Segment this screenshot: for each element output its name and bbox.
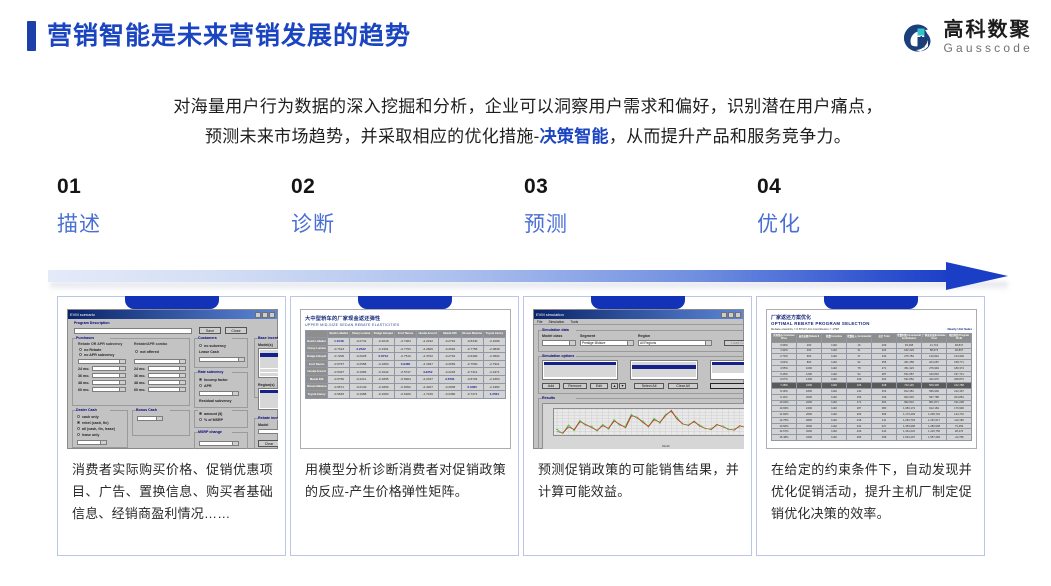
card-row: EVM scenario Program Description Save Cl… — [0, 296, 1051, 558]
intro-line-2: 预测未来市场趋势，并采取相应的优化措施-决策智能，从而提升产品和服务竞争力。 — [48, 122, 1008, 152]
label-models: Model(s) — [258, 343, 273, 347]
matrix-panel: 大中型轿车的厂家现金返还弹性 UPPER MID-SIZE SEDAN REBA… — [300, 309, 511, 449]
matrix-cell: -0.2742 — [350, 337, 372, 345]
matrix-row-header: Toyota Camry — [306, 391, 328, 399]
group-label-simulation-data: Simulation data — [542, 328, 569, 332]
label-segment: Segment — [580, 334, 595, 338]
matrix-cell: -0.7371 — [461, 391, 483, 399]
matrix-cell: 1.1548 — [328, 337, 350, 345]
card-tab — [591, 296, 685, 309]
radio-amount[interactable] — [199, 412, 202, 415]
label-regions: Region(s) — [258, 383, 275, 387]
matrix-title-en: UPPER MID-SIZE SEDAN REBATE ELASTICITIES — [305, 323, 506, 327]
matrix-cell: 2.2522 — [350, 345, 372, 353]
matrix-cell: -2.1663 — [483, 375, 505, 383]
matrix-cell: -0.5645 — [328, 391, 350, 399]
step-number: 01 — [57, 176, 101, 197]
matrix-cell: 2.6791 — [439, 375, 461, 383]
thumbnail-optimal-table: 厂家返还方案优化 OPTIMAL REBATE PROGRAM SELECTIO… — [766, 309, 977, 449]
table-row: Buick LaSabre1.1548-0.2742-0.2018-0.7284… — [306, 337, 506, 345]
label-48mo-left: 48 mo. — [78, 381, 89, 385]
group-label-purchases: Purchases — [76, 336, 94, 340]
edit-button[interactable]: Edit — [590, 383, 608, 389]
matrix-row-header: Ford Taurus — [306, 360, 328, 368]
label-region: Region — [638, 334, 650, 338]
window-buttons — [255, 312, 275, 318]
card-caption: 在给定的约束条件下，自动发现并优化促销活动，提升主机厂制定促销优化决策的效率。 — [771, 459, 972, 524]
matrix-cell: -2.2606 — [417, 345, 439, 353]
models-listbox[interactable] — [258, 348, 278, 378]
step-04: 04 优化 — [757, 176, 801, 235]
label-all: all (cash, fin, lease) — [82, 427, 115, 431]
matrix-cell: -0.2293 — [439, 368, 461, 376]
matrix-cell: -0.1895 — [372, 375, 394, 383]
step-number: 03 — [524, 176, 568, 197]
group-label-simulation-options: Simulation options — [542, 354, 574, 358]
matrix-cell: -0.7314 — [461, 368, 483, 376]
menu-tools[interactable]: Tools — [570, 320, 578, 324]
optimal-table: 实际售价 Customer Price返还金额 Rebate $数量 Incen… — [771, 333, 972, 441]
region-combo[interactable]: All Regions — [638, 340, 712, 346]
radio-apr[interactable] — [199, 384, 202, 387]
matrix-cell: -2.2271 — [483, 368, 505, 376]
matrix-cell: -0.2018 — [372, 337, 394, 345]
model-listbox[interactable] — [630, 360, 698, 380]
radio-no-rebate[interactable] — [79, 348, 82, 351]
bonus-cash-group — [132, 410, 190, 436]
legacy-window: EVM scenario Program Description Save Cl… — [67, 309, 278, 449]
label-residual-subvency: Residual subvency — [199, 399, 232, 403]
save-button[interactable]: Save — [199, 327, 221, 334]
table-row: Ford Taurus-0.6797-0.2588-0.18600.9480-2… — [306, 360, 506, 368]
logo-text: 高科数聚 Gausscode — [943, 20, 1033, 55]
field-60mo-right[interactable] — [148, 387, 186, 392]
group-label-base-incentives: Base incentives — [258, 336, 278, 340]
elasticity-table: Buick LaSabreChevy LuminaDodge IntrepidF… — [305, 330, 506, 399]
matrix-cell: -0.2838 — [439, 383, 461, 391]
card-tab — [824, 296, 918, 309]
matrix-row-header: Honda Accord — [306, 368, 328, 376]
brand-logo: 高科数聚 Gausscode — [898, 20, 1033, 56]
matrix-cell: -0.2149 — [350, 383, 372, 391]
opt-cell: 1192 — [822, 435, 847, 441]
chart-plot-area — [553, 408, 744, 436]
graph-button[interactable]: Graph — [710, 383, 744, 389]
label-60mo-right: 60 mo. — [134, 388, 145, 392]
menu-simulation[interactable]: Simulation — [548, 320, 564, 324]
card-caption: 用模型分析诊断消费者对促销政策的反应-产生价格弹性矩阵。 — [305, 459, 506, 503]
opt-col-header: 数量 Incentive — [822, 334, 847, 343]
model-class-combo[interactable] — [542, 340, 576, 346]
card-caption: 预测促销政策的可能销售结果，并计算可能效益。 — [538, 459, 739, 503]
regions-listbox[interactable] — [258, 388, 278, 410]
intro-paragraph: 对海量用户行为数据的深入挖掘和分析，企业可以洞察用户需求和偏好，识别潜在用户痛点… — [48, 92, 1008, 152]
logo-name-cn: 高科数聚 — [943, 20, 1033, 41]
step-01: 01 描述 — [57, 176, 101, 235]
matrix-cell: -0.8340 — [461, 337, 483, 345]
matrix-cell: -0.6490 — [461, 353, 483, 361]
thumbnail-form-window: EVM scenario Program Description Save Cl… — [67, 309, 278, 449]
label-not-offered: not offered — [140, 350, 159, 354]
opt-cell: 1,557,283 — [922, 435, 947, 441]
matrix-cell: -0.1986 — [350, 368, 372, 376]
radio-no-apr[interactable] — [79, 353, 82, 356]
arrow-head-icon — [946, 262, 1008, 290]
optimal-panel: 厂家返还方案优化 OPTIMAL REBATE PROGRAM SELECTIO… — [766, 309, 977, 449]
opt-cell: 3400 — [797, 435, 822, 441]
step-02: 02 诊断 — [291, 176, 335, 235]
matrix-cell: -2.2337 — [417, 375, 439, 383]
arrow-shaft — [48, 270, 954, 282]
region-value: All Regions — [640, 341, 656, 345]
label-24mo-left: 24 mo. — [78, 367, 89, 371]
matrix-col-header: Ford Taurus — [394, 331, 416, 338]
group-label-program-description: Program Description — [74, 321, 110, 325]
chart-xaxis-label: Month — [662, 444, 670, 448]
matrix-cell: -2.2192 — [417, 337, 439, 345]
label-model: Model — [258, 423, 268, 427]
label-rebate-apr: Rebate OR APR subvency — [78, 342, 122, 346]
matrix-cell: -0.6189 — [394, 391, 416, 399]
label-amount: amount ($) — [204, 412, 222, 416]
window-title: EVM scenario — [70, 312, 95, 317]
matrix-row-header: Dodge Intrepid — [306, 353, 328, 361]
window-body: Program Description Save Close Purchases… — [68, 319, 277, 448]
page-header: 营销智能是未来营销发展的趋势 高科数聚 Gausscode — [0, 0, 1051, 72]
radio-cash-only[interactable] — [77, 415, 80, 418]
label-48mo-right: 48 mo. — [134, 381, 145, 385]
opt-cell: 1,534,497 — [897, 435, 922, 441]
label-no-subvency: no subvency — [204, 344, 226, 348]
label-cash-only: cash only — [82, 415, 99, 419]
matrix-cell: -0.2380 — [439, 391, 461, 399]
group-label-rate-subvency: Rate subvency — [198, 370, 223, 374]
label-no-rebate: no Rebate — [84, 348, 101, 352]
label-lease-cash: Lease Cash — [199, 350, 219, 354]
radio-all[interactable] — [77, 427, 80, 430]
matrix-col-header: Chevy Lumina — [350, 331, 372, 338]
move-up-button[interactable]: ▲ — [611, 383, 618, 389]
window-title-bar: EVM scenario — [68, 310, 277, 319]
matrix-cell: -0.6797 — [328, 360, 350, 368]
opt-cell: -22,789 — [947, 435, 972, 441]
label-lease-only: lease only — [82, 433, 99, 437]
opt-subtitle: Rebate elasticity = 0.8713 Unit Contribu… — [771, 327, 839, 331]
matrix-cell: -0.2794 — [439, 337, 461, 345]
intro-highlight: 决策智能 — [540, 127, 609, 146]
card-tab — [358, 296, 452, 309]
matrix-cell: -2.7921 — [483, 360, 505, 368]
close-button[interactable]: Close — [225, 327, 247, 334]
matrix-cell: -0.1642 — [372, 368, 394, 376]
matrix-cell: -0.6750 — [328, 375, 350, 383]
label-36mo-left: 36 mo. — [78, 374, 89, 378]
matrix-cell: -0.5497 — [328, 368, 350, 376]
thumbnail-simulation-window: EVM simulation File Simulation Tools Sim… — [533, 309, 744, 449]
card-predict[interactable]: EVM simulation File Simulation Tools Sim… — [523, 296, 752, 556]
matrix-cell: 4.2561 — [483, 391, 505, 399]
group-label-results: Results — [542, 396, 555, 400]
card-optimize[interactable]: 厂家返还方案优化 OPTIMAL REBATE PROGRAM SELECTIO… — [756, 296, 985, 556]
bonus-cash-field[interactable] — [137, 416, 163, 421]
matrix-cell: -0.7313 — [328, 345, 350, 353]
label-incomp-factor: Incomp factor — [204, 378, 228, 382]
matrix-cell: -0.1869 — [372, 383, 394, 391]
label-rebate-combo: Rebate/APR combo — [134, 342, 167, 346]
radio-no-subvency[interactable] — [199, 344, 202, 347]
matrix-col-header: Honda Accord — [417, 331, 439, 338]
matrix-cell: -0.2669 — [439, 360, 461, 368]
matrix-title-cn: 大中型轿车的厂家现金返还弹性 — [305, 315, 506, 322]
remove-button[interactable]: Remove — [563, 383, 587, 389]
legacy-window: EVM simulation File Simulation Tools Sim… — [533, 309, 744, 449]
matrix-row-header: Nissan Maxima — [306, 383, 328, 391]
logo-name-en: Gausscode — [943, 42, 1033, 55]
scenario-listbox[interactable] — [542, 360, 618, 380]
matrix-col-header: Toyota Camry — [483, 331, 505, 338]
page-title: 营销智能是未来营销发展的趋势 — [47, 24, 411, 49]
matrix-col-header: Dodge Intrepid — [372, 331, 394, 338]
matrix-cell: -0.1660 — [372, 391, 394, 399]
matrix-corner — [306, 331, 328, 338]
step-label: 诊断 — [291, 214, 335, 235]
opt-col-header: 返还金额 Rebate $ — [797, 334, 822, 343]
radio-not-offered[interactable] — [135, 350, 138, 353]
dealer-cash-combo[interactable] — [77, 440, 107, 445]
load-case-button[interactable]: Load Case — [724, 340, 744, 346]
card-tab — [125, 296, 219, 309]
card-describe[interactable]: EVM scenario Program Description Save Cl… — [57, 296, 286, 556]
card-diagnose[interactable]: 大中型轿车的厂家现金返还弹性 UPPER MID-SIZE SEDAN REBA… — [290, 296, 519, 556]
thumbnail-elasticity-matrix: 大中型轿车的厂家现金返还弹性 UPPER MID-SIZE SEDAN REBA… — [300, 309, 511, 449]
step-number: 04 — [757, 176, 801, 197]
field-24mo-right[interactable] — [148, 366, 186, 371]
matrix-cell: -2.3207 — [417, 383, 439, 391]
matrix-cell: -2.1982 — [483, 383, 505, 391]
matrix-cell: -2.0602 — [483, 353, 505, 361]
rebate-model-combo[interactable] — [258, 429, 278, 434]
step-label: 预测 — [524, 214, 568, 235]
purchase-combo-2[interactable] — [134, 359, 186, 364]
segment-combo[interactable]: Prestige Midsize — [580, 340, 634, 346]
window-title: EVM simulation — [536, 312, 564, 317]
opt-cell: 15.48% — [772, 435, 797, 441]
arrow-shadow — [50, 282, 1008, 291]
window-body: Simulation data Model class Segment Regi… — [534, 326, 743, 448]
table-row: 15.48%340011922654581,534,4971,557,283-2… — [772, 435, 972, 441]
group-label-dealer-cash: Dealer Cash — [76, 408, 97, 412]
step-labels: 01 描述 02 诊断 03 预测 04 优化 — [0, 176, 1051, 250]
matrix-row-header: Mazda 626 — [306, 375, 328, 383]
matrix-cell: -1.7436 — [417, 391, 439, 399]
matrix-cell: -0.1860 — [372, 360, 394, 368]
table-header-row: 实际售价 Customer Price返还金额 Rebate $数量 Incen… — [772, 334, 972, 343]
table-row: Chevy Lumina-0.73132.2522-0.1991-0.7793-… — [306, 345, 506, 353]
matrix-cell: -0.2692 — [439, 345, 461, 353]
label-apr: APR — [204, 384, 212, 388]
matrix-row-header: Chevy Lumina — [306, 345, 328, 353]
field-60mo-left[interactable] — [92, 387, 126, 392]
table-row: Honda Accord-0.5497-0.1986-0.1642-0.5747… — [306, 368, 506, 376]
label-pct-msrp: % of MSRP — [204, 418, 223, 422]
matrix-cell: -0.2211 — [350, 375, 372, 383]
title-accent-bar — [27, 21, 36, 51]
msrp-change-field[interactable] — [199, 441, 239, 446]
card-caption: 消费者实际购买价格、促销优惠项目、广告、置换信息、购买者基础信息、经销商盈利情况… — [72, 459, 273, 524]
matrix-cell: -0.7206 — [328, 353, 350, 361]
opt-col-header: 增量利润 Incremental Contribution — [897, 334, 922, 343]
intro-line-2-post: ，从而提升产品和服务竞争力。 — [609, 127, 851, 146]
matrix-cell: -0.8704 — [461, 375, 483, 383]
matrix-cell: -0.6671 — [328, 383, 350, 391]
lease-cash-combo[interactable] — [199, 357, 245, 362]
move-down-button[interactable]: ▼ — [619, 383, 626, 389]
radio-pct-msrp[interactable] — [199, 418, 202, 421]
field-48mo-left[interactable] — [92, 380, 126, 385]
opt-title-cn: 厂家返还方案优化 — [771, 314, 972, 321]
label-24mo-right: 24 mo. — [134, 367, 145, 371]
opt-col-header: 总计 Total — [872, 334, 897, 343]
menu-file[interactable]: File — [537, 320, 542, 324]
window-title-bar: EVM simulation — [534, 310, 743, 319]
purchase-combo-1[interactable] — [78, 359, 126, 364]
group-label-rebate-incentives: Rebate incentives — [258, 416, 278, 420]
matrix-cell: -2.0838 — [483, 345, 505, 353]
matrix-cell: -0.7793 — [394, 345, 416, 353]
matrix-cell: 0.9480 — [394, 360, 416, 368]
group-label-customers: Customers — [198, 336, 217, 340]
opt-cell: 458 — [872, 435, 897, 441]
label-rebel: rebel (cash, fin) — [82, 421, 109, 425]
matrix-cell: -0.2588 — [350, 360, 372, 368]
opt-col-header: 增量收入 Incremental — [847, 334, 872, 343]
opt-corner-note: Nearly Unit Sales — [947, 327, 972, 331]
matrix-cell: 0.6480 — [461, 383, 483, 391]
step-number: 02 — [291, 176, 335, 197]
label-36mo-right: 36 mo. — [134, 374, 145, 378]
table-row: Toyota Camry-0.5645-0.1988-0.1660-0.6189… — [306, 391, 506, 399]
radio-rebel[interactable] — [77, 421, 80, 424]
page-title-wrap: 营销智能是未来营销发展的趋势 — [27, 21, 411, 51]
window-buttons — [721, 312, 741, 318]
group-label-bonus-cash: Bonus Cash — [136, 408, 157, 412]
matrix-cell: -2.1096 — [483, 337, 505, 345]
matrix-col-header: Nissan Maxima — [461, 331, 483, 338]
matrix-cell: -0.7510 — [394, 353, 416, 361]
table-row: Nissan Maxima-0.6671-0.2149-0.1869-0.605… — [306, 383, 506, 391]
radio-lease-only[interactable] — [77, 433, 80, 436]
opt-cell: 265 — [847, 435, 872, 441]
opt-col-header: 实际售价 Customer Price — [772, 334, 797, 343]
radio-incomp-factor[interactable] — [199, 378, 202, 381]
gausscode-logo-icon — [898, 20, 934, 56]
field-48mo-right[interactable] — [148, 380, 186, 385]
step-label: 描述 — [57, 214, 101, 235]
field-36mo-left[interactable] — [92, 373, 126, 378]
label-model-class: Model class — [542, 334, 562, 338]
progress-arrow — [48, 262, 1010, 294]
opt-col-header: 厂家返还成本 Rebate Cost — [922, 334, 947, 343]
opt-col-header: 项目利润 Program Profit — [947, 334, 972, 343]
matrix-cell: -0.1988 — [350, 391, 372, 399]
table-row: Dodge Intrepid-0.7206-0.20280.8713-0.751… — [306, 353, 506, 361]
matrix-cell: -0.6904 — [394, 375, 416, 383]
menu-bar[interactable]: File Simulation Tools — [534, 319, 743, 325]
matrix-cell: -0.5747 — [394, 368, 416, 376]
matrix-row-header: Buick LaSabre — [306, 337, 328, 345]
simulation-chart: Dodge Dakota est Dodge Dakota actual Mon… — [542, 403, 744, 449]
matrix-col-header: Mazda 626 — [439, 331, 461, 338]
clear-button[interactable]: Clear — [258, 440, 278, 447]
matrix-cell: -0.7284 — [394, 337, 416, 345]
field-24mo-left[interactable] — [92, 366, 126, 371]
matrix-cell: -2.1697 — [417, 360, 439, 368]
clear-all-button[interactable]: Clear All — [668, 383, 698, 389]
field-36mo-right[interactable] — [148, 373, 186, 378]
matrix-cell: -0.6052 — [394, 383, 416, 391]
option-listbox[interactable] — [710, 360, 744, 380]
label-60mo-left: 60 mo. — [78, 388, 89, 392]
matrix-cell: -0.7500 — [461, 360, 483, 368]
matrix-col-header: Buick LaSabre — [328, 331, 350, 338]
segment-value: Prestige Midsize — [582, 341, 605, 345]
intro-line-1: 对海量用户行为数据的深入挖掘和分析，企业可以洞察用户需求和偏好，识别潜在用户痛点… — [48, 92, 1008, 122]
table-row: Mazda 626-0.6750-0.2211-0.1895-0.6904-2.… — [306, 375, 506, 383]
add-button[interactable]: Add — [542, 383, 560, 389]
matrix-cell: 0.8713 — [372, 353, 394, 361]
label-no-apr: no APR subvency — [84, 353, 114, 357]
matrix-cell: -0.2794 — [439, 353, 461, 361]
select-all-button[interactable]: Select All — [634, 383, 664, 389]
matrix-cell: -2.3702 — [417, 353, 439, 361]
matrix-cell: 4.2252 — [417, 368, 439, 376]
group-label-msrp-change: MSRP change — [198, 430, 222, 434]
matrix-cell: -0.1991 — [372, 345, 394, 353]
matrix-cell: -0.7756 — [461, 345, 483, 353]
table-header-row: Buick LaSabreChevy LuminaDodge IntrepidF… — [306, 331, 506, 338]
rate-subvency-combo[interactable] — [199, 391, 239, 396]
step-label: 优化 — [757, 214, 801, 235]
matrix-cell: -0.2028 — [350, 353, 372, 361]
program-description-input[interactable] — [74, 328, 192, 334]
step-03: 03 预测 — [524, 176, 568, 235]
intro-line-2-pre: 预测未来市场趋势，并采取相应的优化措施- — [205, 127, 540, 146]
